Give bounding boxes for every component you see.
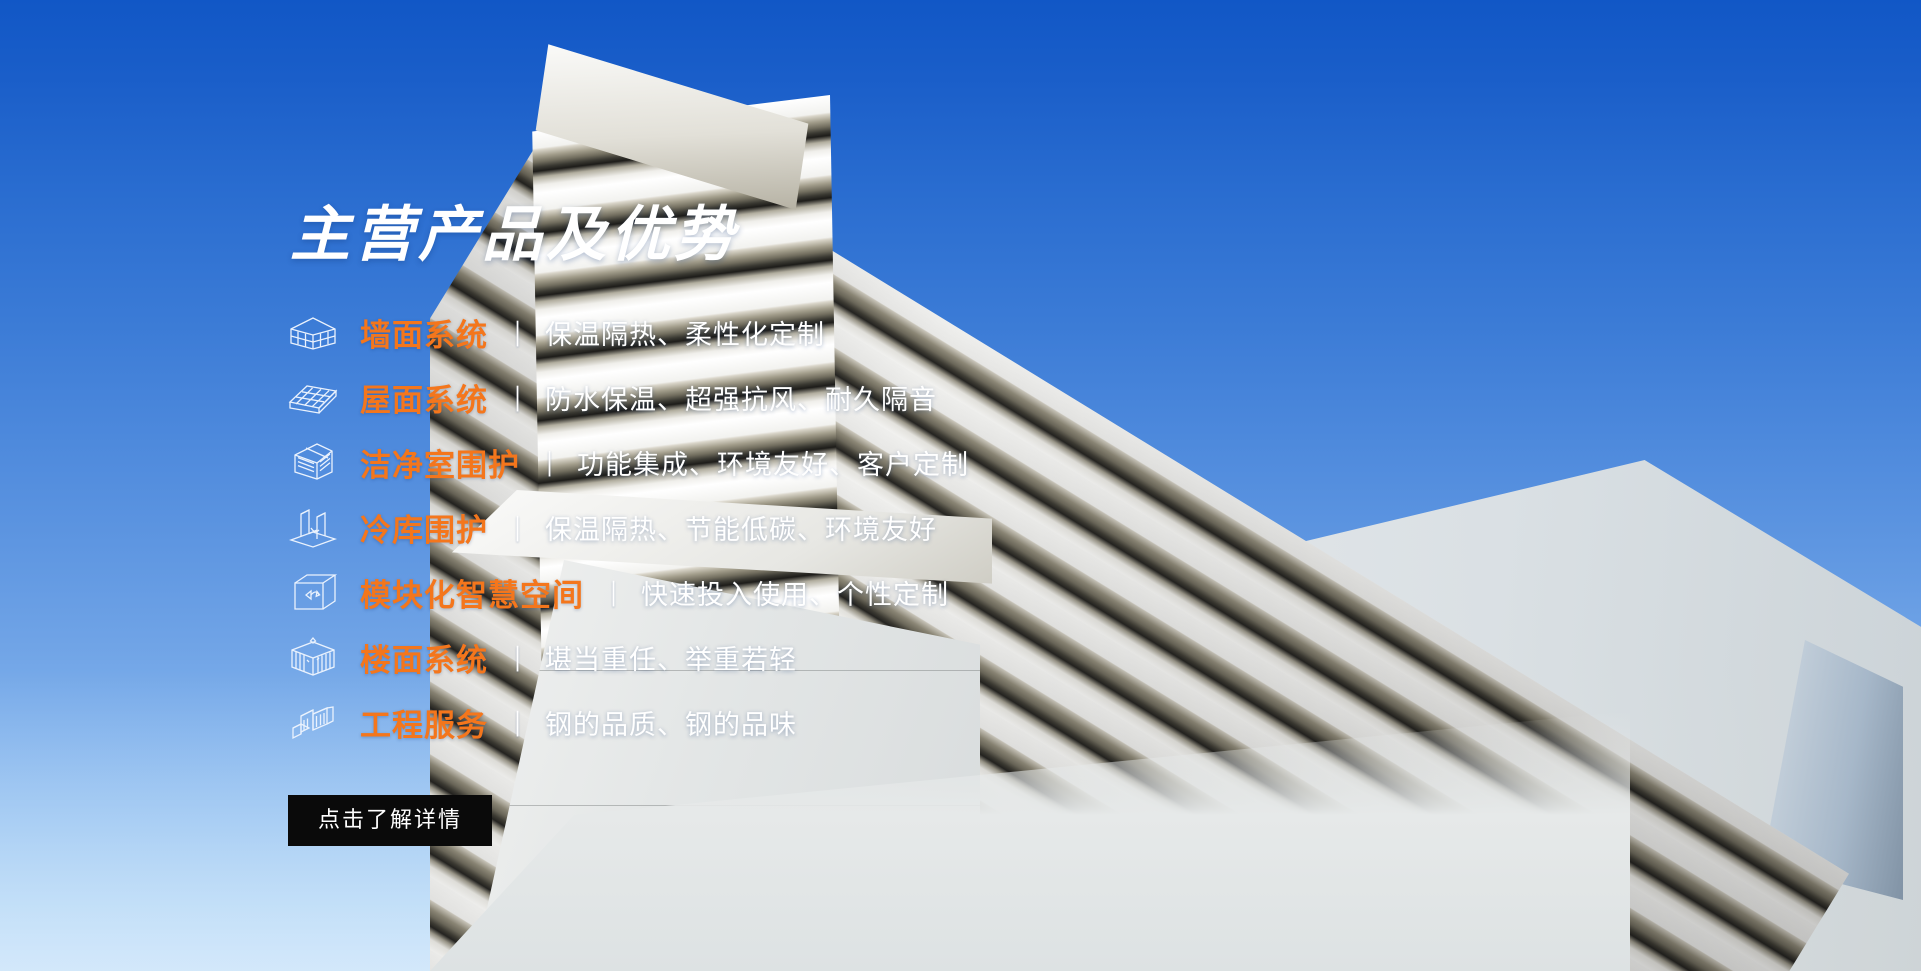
roof-system-icon [286,375,340,421]
feature-name: 冷库围护 [360,505,488,550]
feature-separator: 丨 [510,638,525,677]
feature-desc: 保温隔热、节能低碳、环境友好 [545,508,937,547]
feature-row[interactable]: 冷库围护 丨 保温隔热、节能低碳、环境友好 [286,495,1106,560]
modular-space-icon [286,570,340,616]
feature-row[interactable]: 墙面系统 丨 保温隔热、柔性化定制 [286,300,1106,365]
feature-name: 墙面系统 [360,310,488,355]
feature-name: 洁净室围护 [360,440,520,485]
feature-desc: 堪当重任、举重若轻 [545,638,797,677]
feature-separator: 丨 [510,313,525,352]
feature-row[interactable]: 屋面系统 丨 防水保温、超强抗风、耐久隔音 [286,365,1106,430]
engineering-service-icon [286,700,340,746]
feature-row[interactable]: 工程服务 丨 钢的品质、钢的品味 [286,690,1106,755]
feature-row[interactable]: 模块化智慧空间 丨 快速投入使用、个性定制 [286,560,1106,625]
feature-desc: 保温隔热、柔性化定制 [545,313,825,352]
feature-name: 楼面系统 [360,635,488,680]
feature-list: 墙面系统 丨 保温隔热、柔性化定制 屋面系统 丨 防水保温、超强抗 [286,300,1106,755]
feature-separator: 丨 [542,443,557,482]
hero-content: 主营产品及优势 墙面系统 丨 保温隔热、柔性化定制 [0,0,1100,971]
feature-name: 工程服务 [360,700,488,745]
feature-desc: 防水保温、超强抗风、耐久隔音 [545,378,937,417]
feature-separator: 丨 [510,378,525,417]
page-title: 主营产品及优势 [290,205,738,265]
hero-banner: 主营产品及优势 墙面系统 丨 保温隔热、柔性化定制 [0,0,1921,971]
feature-separator: 丨 [510,508,525,547]
wall-system-icon [286,310,340,356]
feature-desc: 快速投入使用、个性定制 [641,573,949,612]
learn-more-button[interactable]: 点击了解详情 [288,795,492,846]
floor-system-icon [286,635,340,681]
feature-name: 模块化智慧空间 [360,570,584,615]
cold-storage-icon [286,505,340,551]
feature-desc: 钢的品质、钢的品味 [545,703,797,742]
feature-name: 屋面系统 [360,375,488,420]
cleanroom-icon [286,440,340,486]
feature-separator: 丨 [510,703,525,742]
feature-separator: 丨 [606,573,621,612]
feature-desc: 功能集成、环境友好、客户定制 [577,443,969,482]
feature-row[interactable]: 洁净室围护 丨 功能集成、环境友好、客户定制 [286,430,1106,495]
feature-row[interactable]: 楼面系统 丨 堪当重任、举重若轻 [286,625,1106,690]
